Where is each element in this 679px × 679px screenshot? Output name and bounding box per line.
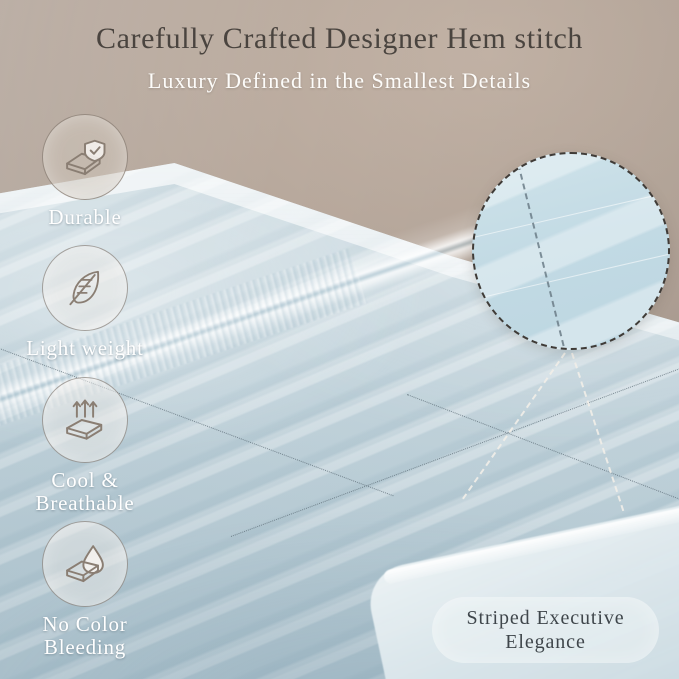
feature-badge-cool-breathable: Cool & Breathable [42,377,128,463]
feature-badge-light-weight: Light weight [42,245,128,331]
product-tagline-pill: Striped Executive Elegance [432,597,659,663]
page-title: Carefully Crafted Designer Hem stitch [0,22,679,56]
magnified-stitch-line [510,152,572,350]
feature-label: Durable [0,206,170,229]
feature-badge-durable: Durable [42,114,128,200]
magnifier-crease [472,184,670,242]
droplet-fabric-icon [59,538,111,590]
page-subtitle: Luxury Defined in the Smallest Details [0,68,679,94]
shield-fabric-icon [59,131,111,183]
badge-disc [42,245,128,331]
feature-badge-no-color-bleeding: No Color Bleeding [42,521,128,607]
breathable-fabric-icon [59,394,111,446]
feature-label: No Color Bleeding [0,613,170,659]
magnifier-crease [472,246,670,304]
feather-icon [59,262,111,314]
badge-disc [42,521,128,607]
badge-disc [42,114,128,200]
product-feature-image: Carefully Crafted Designer Hem stitch Lu… [0,0,679,679]
product-tagline: Striped Executive Elegance [432,606,659,654]
feature-label: Light weight [0,337,170,360]
hem-stitch-magnifier [472,152,670,350]
feature-label: Cool & Breathable [0,469,170,515]
badge-disc [42,377,128,463]
